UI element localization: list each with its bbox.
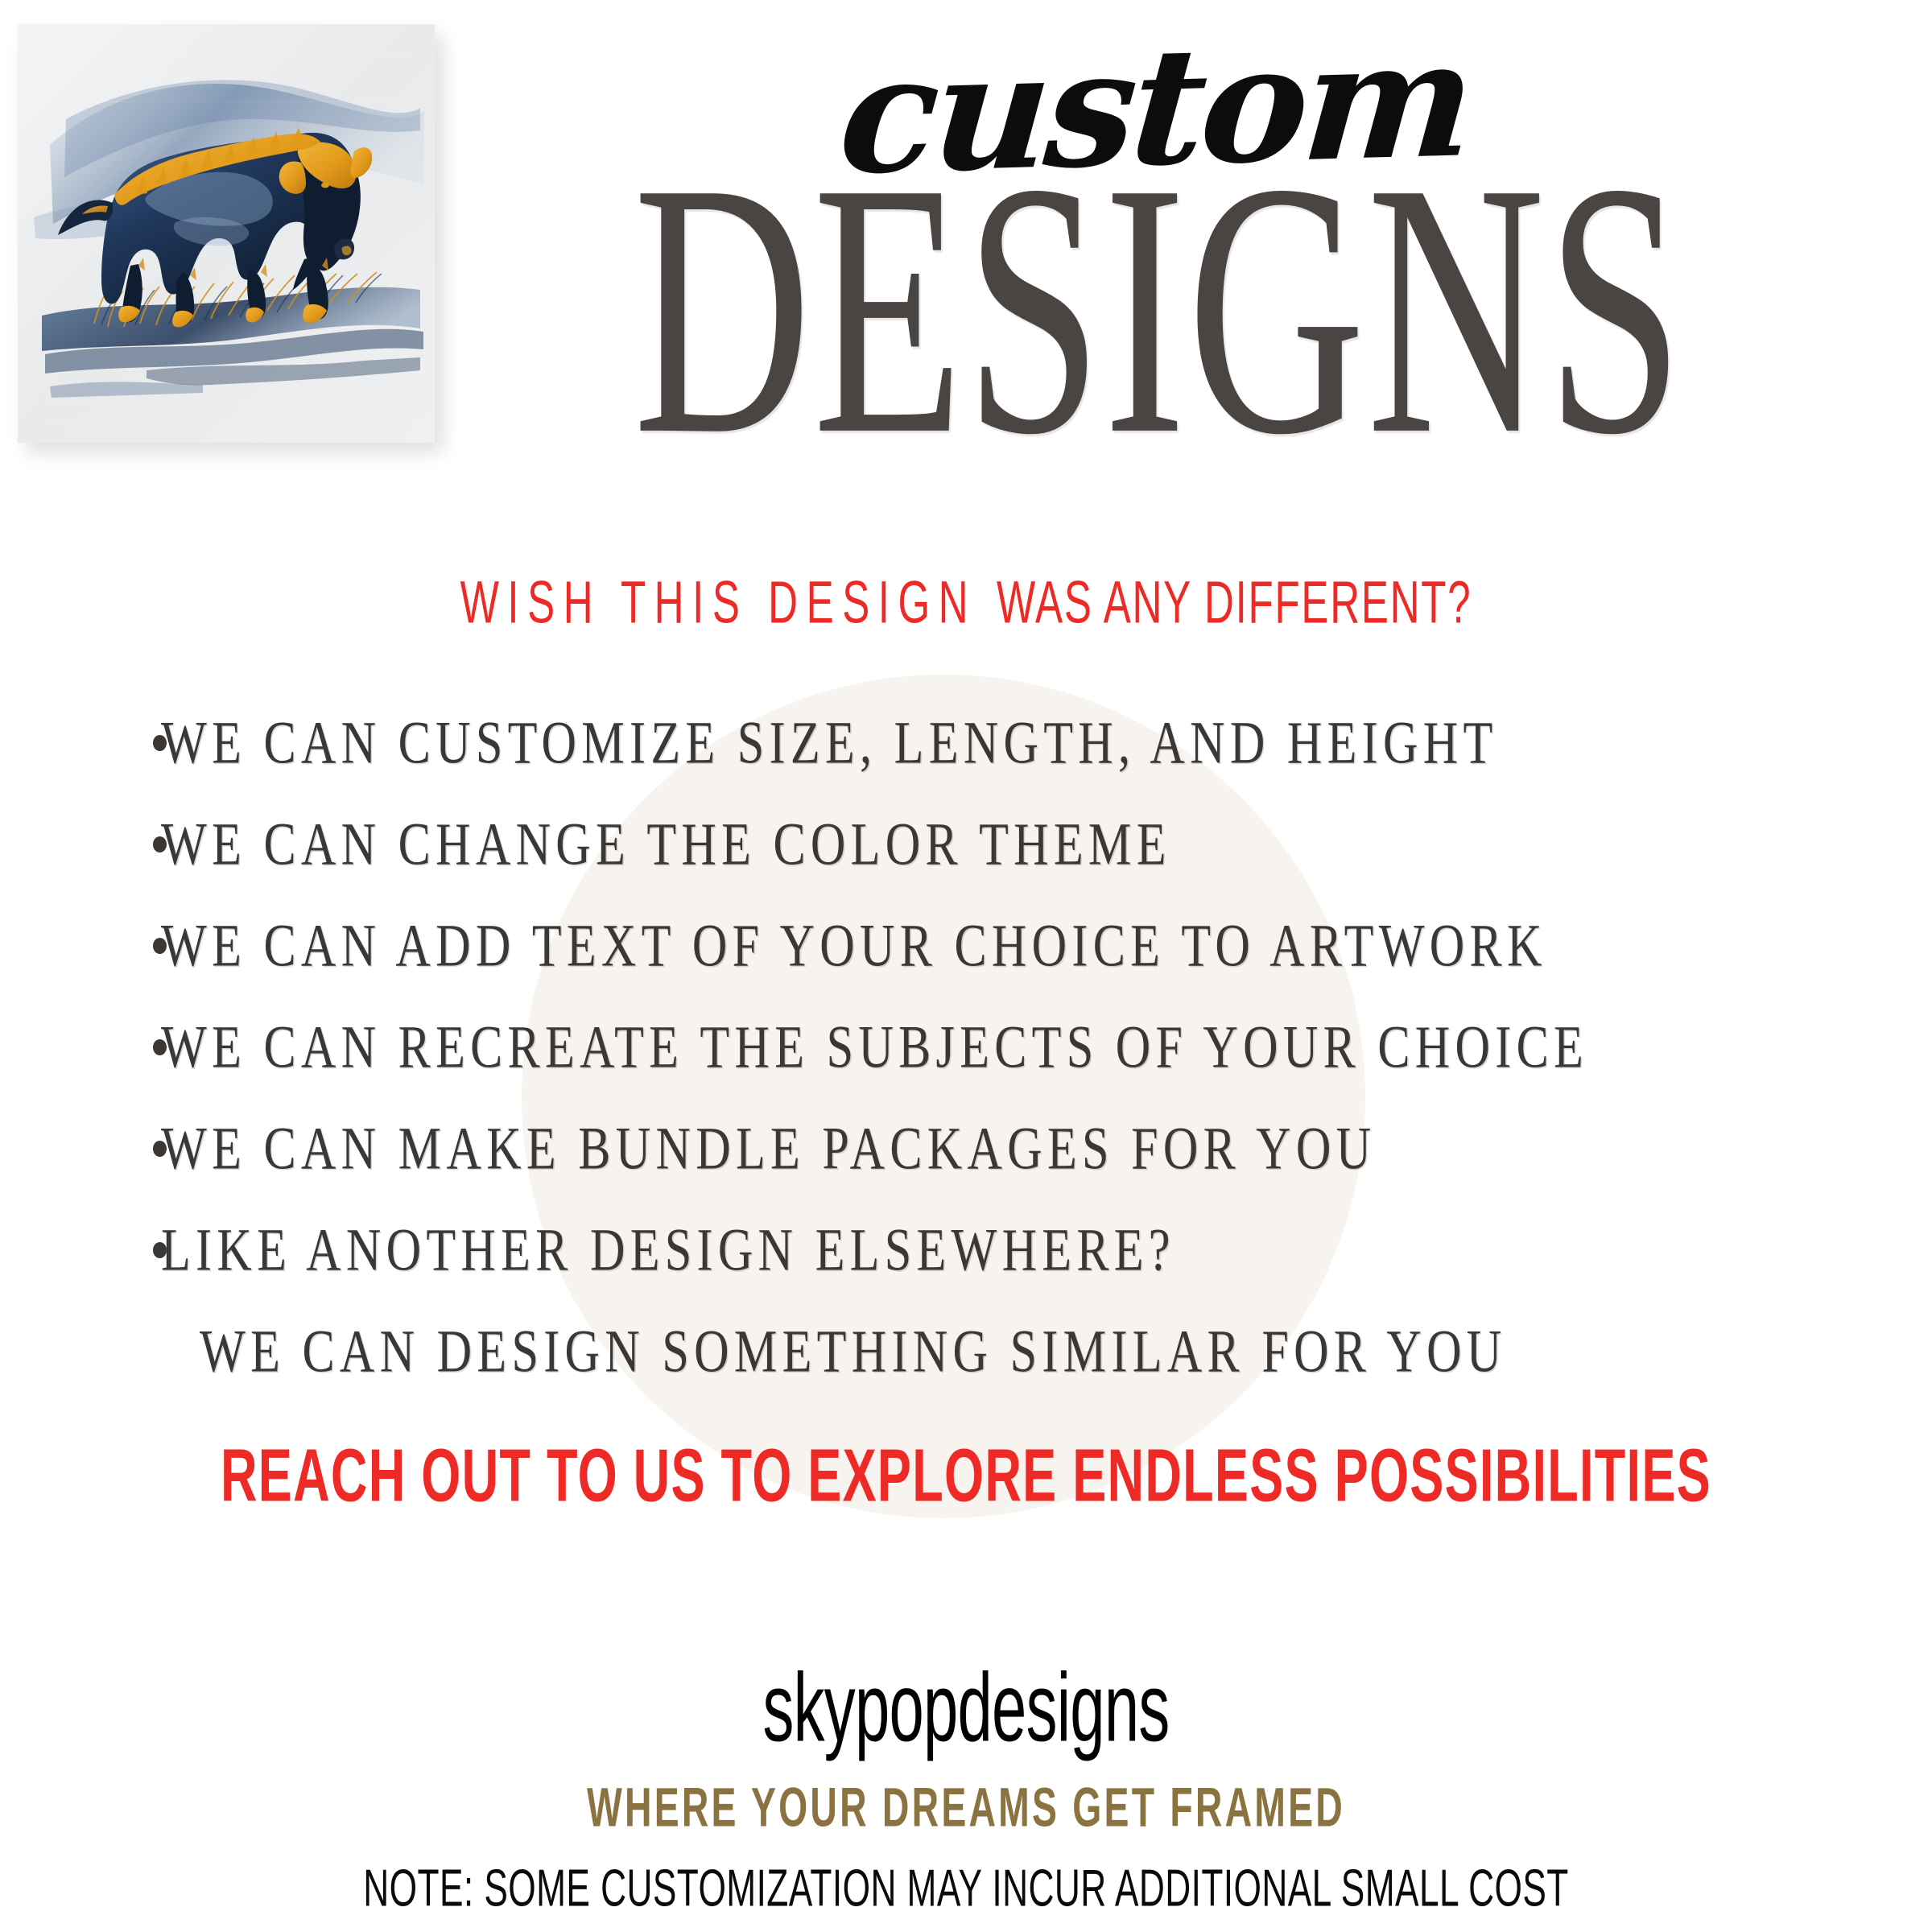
headline-group: custom DESIGNS [435,32,1884,420]
subheadline-part-b: WAS ANY DIFFERENT? [997,569,1472,636]
call-to-action-text: REACH OUT TO US TO EXPLORE ENDLESS POSSI… [164,1433,1768,1518]
customization-options-list: WE CAN CUSTOMIZE SIZE, LENGTH, AND HEIGH… [0,692,1932,1402]
list-item-label: WE CAN ADD TEXT OF YOUR CHOICE TO ARTWOR… [161,911,1547,981]
subheadline-question: WISH THIS DESIGN WAS ANY DIFFERENT? [116,568,1816,638]
bison-artwork-illustration [18,24,435,443]
disclaimer-note: NOTE: SOME CUSTOMIZATION MAY INCUR ADDIT… [174,1859,1758,1918]
list-item-continuation: WE CAN DESIGN SOMETHING SIMILAR FOR YOU [0,1301,1932,1402]
list-item-label: WE CAN MAKE BUNDLE PACKAGES FOR YOU [161,1114,1376,1184]
list-item: WE CAN RECREATE THE SUBJECTS OF YOUR CHO… [0,997,1932,1098]
list-item-label: WE CAN CUSTOMIZE SIZE, LENGTH, AND HEIGH… [161,708,1498,778]
list-item-label: WE CAN CHANGE THE COLOR THEME [161,810,1171,880]
product-artwork-thumbnail[interactable] [18,24,435,443]
list-item: WE CAN CUSTOMIZE SIZE, LENGTH, AND HEIGH… [0,692,1932,794]
brand-tagline: WHERE YOUR DREAMS GET FRAMED [193,1776,1739,1839]
list-item-label: WE CAN DESIGN SOMETHING SIMILAR FOR YOU [200,1317,1507,1387]
list-item: WE CAN MAKE BUNDLE PACKAGES FOR YOU [0,1098,1932,1199]
brand-name: skypopdesigns [270,1651,1662,1764]
list-item-label: LIKE ANOTHER DESIGN ELSEWHERE? [161,1216,1175,1286]
list-item: LIKE ANOTHER DESIGN ELSEWHERE? [0,1199,1932,1301]
list-item-label: WE CAN RECREATE THE SUBJECTS OF YOUR CHO… [161,1013,1588,1083]
subheadline-part-a: WISH THIS DESIGN [460,569,997,636]
list-item: WE CAN ADD TEXT OF YOUR CHOICE TO ARTWOR… [0,895,1932,997]
page-title-designs: DESIGNS [420,156,1898,460]
list-item: WE CAN CHANGE THE COLOR THEME [0,794,1932,895]
